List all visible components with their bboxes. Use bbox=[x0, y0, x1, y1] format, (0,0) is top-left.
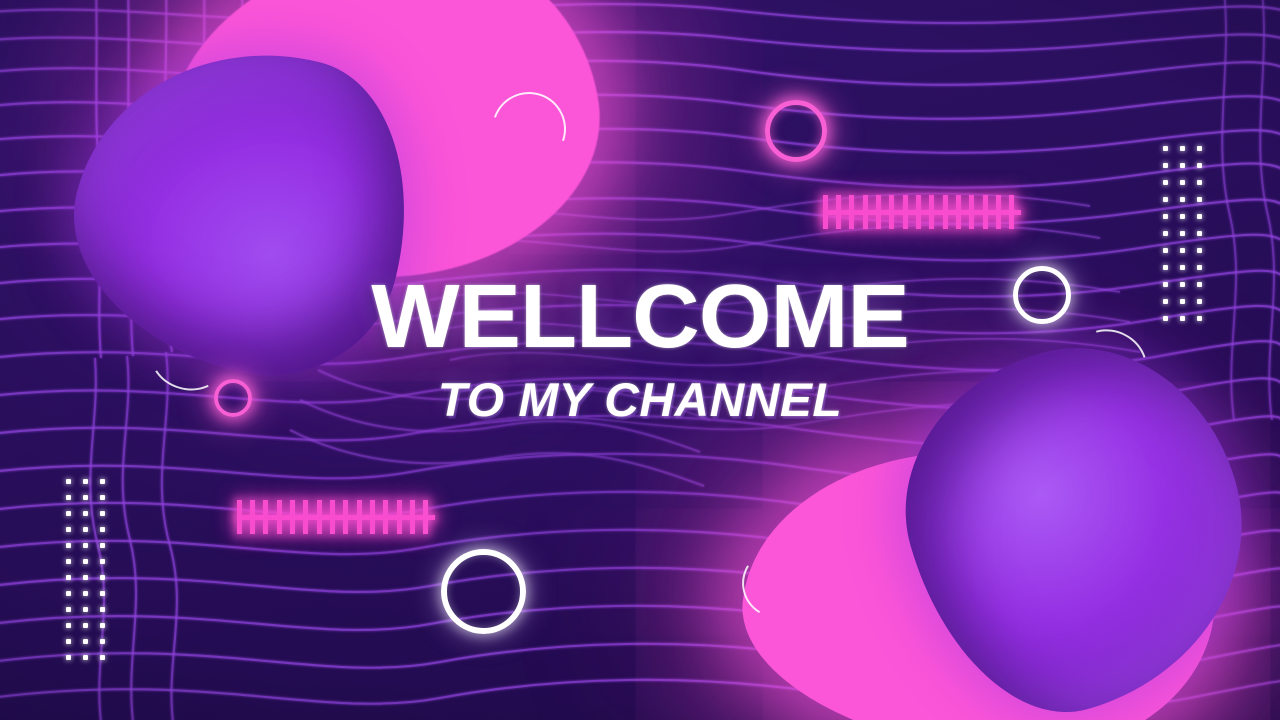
pink-ring-top-icon bbox=[765, 100, 827, 162]
dot-grid-right-icon bbox=[1163, 146, 1214, 333]
dot-grid-left-icon bbox=[66, 479, 117, 671]
tally-marks-left-icon bbox=[237, 500, 435, 534]
white-arc-bottom-icon bbox=[735, 540, 822, 625]
white-ring-bottom-icon bbox=[441, 549, 526, 634]
tally-group bbox=[397, 500, 449, 534]
white-arc-right-mid-icon bbox=[1058, 316, 1161, 416]
tally-group bbox=[983, 195, 1035, 229]
banner-canvas: WELLCOME TO MY CHANNEL bbox=[0, 0, 1280, 720]
decoration-layer bbox=[0, 0, 1280, 720]
white-ring-right-icon bbox=[1013, 266, 1071, 324]
white-arc-top-left-icon bbox=[480, 80, 579, 179]
tally-marks-right-icon bbox=[823, 195, 1021, 229]
pink-ring-left-icon bbox=[214, 379, 252, 417]
